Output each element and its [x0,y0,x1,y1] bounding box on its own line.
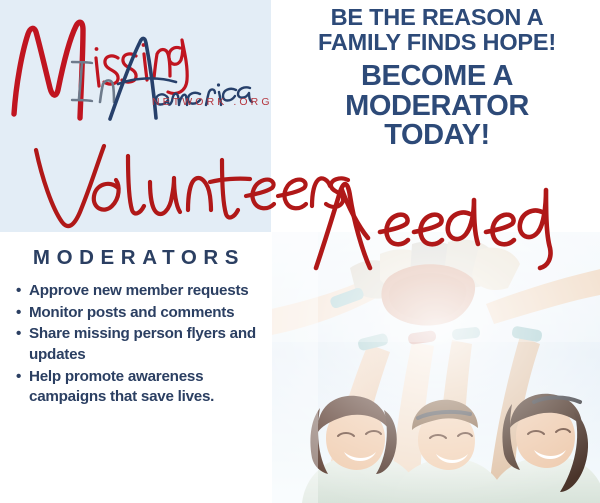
headline-line-3: BECOME A [282,62,592,92]
bullet-icon: • [16,281,21,302]
bullet-icon: • [16,367,21,388]
list-item-label: Approve new member requests [29,282,248,299]
logo-tagline-text: NETWORK .ORG [152,96,271,108]
bullet-icon: • [16,303,21,324]
list-item: • Approve new member requests [14,281,266,302]
list-item: • Monitor posts and comments [14,303,266,324]
bullet-icon: • [16,324,21,345]
poster-canvas: NETWORK .ORG BE THE REASON A FAMILY FIND… [0,0,600,503]
list-item-label: Monitor posts and comments [29,304,234,321]
list-item: • Share missing person flyers and update… [14,324,266,365]
moderators-section: MODERATORS • Approve new member requests… [0,246,272,409]
organization-logo: NETWORK .ORG [0,6,271,121]
headline-line-1: BE THE REASON A [282,6,592,30]
headline-line-5: TODAY! [282,121,592,151]
headline-line-2: FAMILY FINDS HOPE! [282,31,592,55]
volunteers-photo [272,232,600,503]
list-item: • Help promote awareness campaigns that … [14,367,266,408]
headline-block: BE THE REASON A FAMILY FINDS HOPE! BECOM… [282,6,592,151]
list-item-label: Help promote awareness campaigns that sa… [29,368,214,406]
moderators-duty-list: • Approve new member requests • Monitor … [0,281,272,408]
list-item-label: Share missing person flyers and updates [29,325,256,363]
headline-line-4: MODERATOR [282,92,592,122]
moderators-title: MODERATORS [0,246,272,270]
